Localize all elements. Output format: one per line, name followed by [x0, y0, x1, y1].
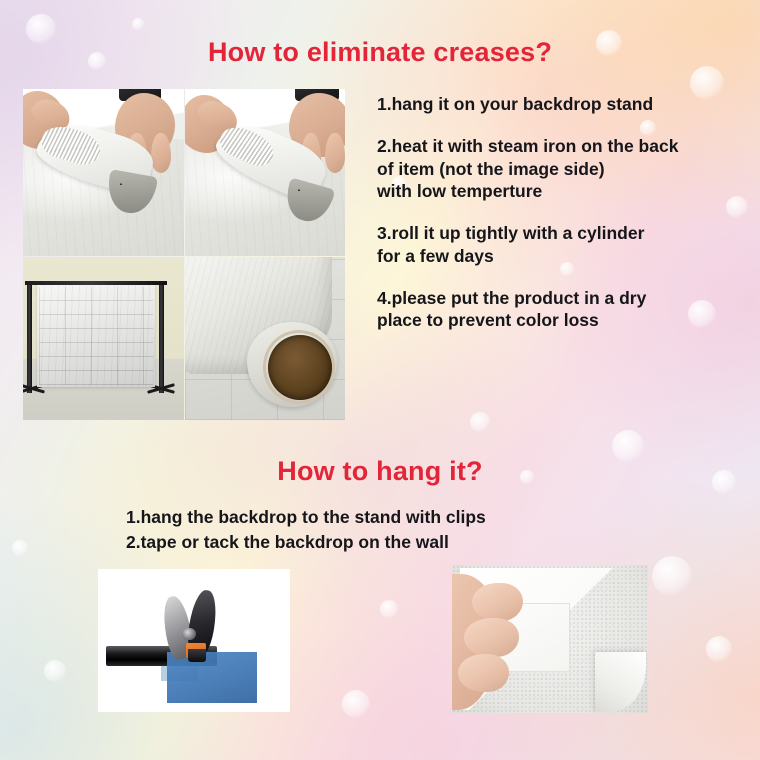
- finger: [325, 133, 345, 173]
- step-line: for a few days: [377, 245, 752, 268]
- step-line: with low temperture: [377, 180, 752, 203]
- finger: [458, 654, 509, 692]
- photo-rolled-backdrop: [185, 257, 345, 420]
- stand-pole-right: [159, 281, 164, 393]
- photo-iron-step-1: ▲: [23, 89, 184, 256]
- blue-backdrop-cloth: [167, 652, 257, 703]
- finger: [464, 618, 519, 656]
- stand-pole-left: [27, 281, 32, 393]
- brick-backdrop-cloth: [37, 285, 155, 387]
- photo-spring-clamp: [98, 569, 290, 712]
- photo-adhesive-tape: [452, 565, 648, 713]
- brand-mark: ▲: [119, 181, 123, 186]
- finger: [472, 583, 523, 621]
- step-line: 3.roll it up tightly with a cylinder: [377, 222, 752, 245]
- page-title-eliminate-creases: How to eliminate creases?: [0, 37, 760, 68]
- promo-infographic: How to eliminate creases? ▲ ▲: [0, 0, 760, 760]
- step-line: place to prevent color loss: [377, 309, 752, 332]
- step-item: 2.heat it with steam iron on the back of…: [377, 135, 752, 203]
- step-line: 1.hang it on your backdrop stand: [377, 93, 752, 116]
- step-item: 3.roll it up tightly with a cylinder for…: [377, 222, 752, 268]
- finger: [151, 133, 171, 173]
- hanging-steps-list: 1.hang the backdrop to the stand with cl…: [126, 505, 646, 555]
- step-line: 4.please put the product in a dry: [377, 287, 752, 310]
- creases-steps-list: 1.hang it on your backdrop stand 2.heat …: [377, 93, 752, 332]
- step-line: 2.tape or tack the backdrop on the wall: [126, 530, 646, 555]
- brand-mark: ▲: [297, 187, 301, 192]
- page-title-how-to-hang: How to hang it?: [0, 456, 760, 487]
- step-line: of item (not the image side): [377, 158, 752, 181]
- step-line: 1.hang the backdrop to the stand with cl…: [126, 505, 646, 530]
- photo-backdrop-stand: [23, 257, 184, 420]
- step-line: 2.heat it with steam iron on the back: [377, 135, 752, 158]
- clamp-jaw-tip: [188, 649, 205, 662]
- step-item: 1.hang it on your backdrop stand: [377, 93, 752, 116]
- photo-iron-step-2: ▲: [185, 89, 345, 256]
- step-item: 4.please put the product in a dry place …: [377, 287, 752, 333]
